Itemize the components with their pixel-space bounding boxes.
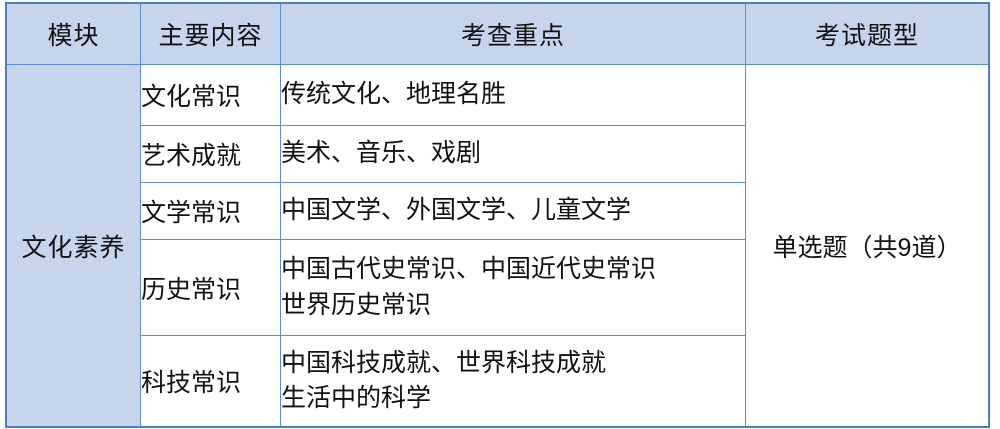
focus-line: 中国科技成就、世界科技成就 bbox=[281, 346, 745, 382]
header-cell-qtype: 考试题型 bbox=[746, 4, 989, 65]
table-row: 文化素养 文化常识 传统文化、地理名胜 单选题（共9道） bbox=[7, 65, 989, 126]
focus-line: 传统文化、地理名胜 bbox=[281, 77, 745, 113]
question-type-cell: 单选题（共9道） bbox=[746, 65, 989, 427]
header-cell-content: 主要内容 bbox=[141, 4, 281, 65]
screenshot-canvas: 模块 主要内容 考查重点 考试题型 文化素养 文化常识 传统文化、地理名胜 单选… bbox=[0, 0, 1000, 429]
exam-outline-table: 模块 主要内容 考查重点 考试题型 文化素养 文化常识 传统文化、地理名胜 单选… bbox=[6, 3, 989, 427]
focus-cell-3: 中国古代史常识、中国近代史常识 世界历史常识 bbox=[281, 240, 746, 336]
content-cell-3: 历史常识 bbox=[141, 240, 281, 336]
focus-line: 生活中的科学 bbox=[281, 381, 745, 417]
focus-line: 世界历史常识 bbox=[281, 288, 745, 324]
focus-cell-1: 美术、音乐、戏剧 bbox=[281, 126, 746, 183]
header-cell-module: 模块 bbox=[7, 4, 141, 65]
focus-cell-2: 中国文学、外国文学、儿童文学 bbox=[281, 183, 746, 240]
focus-line: 中国古代史常识、中国近代史常识 bbox=[281, 252, 745, 288]
content-cell-2: 文学常识 bbox=[141, 183, 281, 240]
header-cell-focus: 考查重点 bbox=[281, 4, 746, 65]
content-cell-4: 科技常识 bbox=[141, 336, 281, 427]
focus-cell-0: 传统文化、地理名胜 bbox=[281, 65, 746, 126]
focus-line: 中国文学、外国文学、儿童文学 bbox=[281, 193, 745, 229]
content-cell-0: 文化常识 bbox=[141, 65, 281, 126]
module-cell-culture-literacy: 文化素养 bbox=[7, 65, 141, 427]
table-header-row: 模块 主要内容 考查重点 考试题型 bbox=[7, 4, 989, 65]
focus-line: 美术、音乐、戏剧 bbox=[281, 136, 745, 172]
content-cell-1: 艺术成就 bbox=[141, 126, 281, 183]
focus-cell-4: 中国科技成就、世界科技成就 生活中的科学 bbox=[281, 336, 746, 427]
